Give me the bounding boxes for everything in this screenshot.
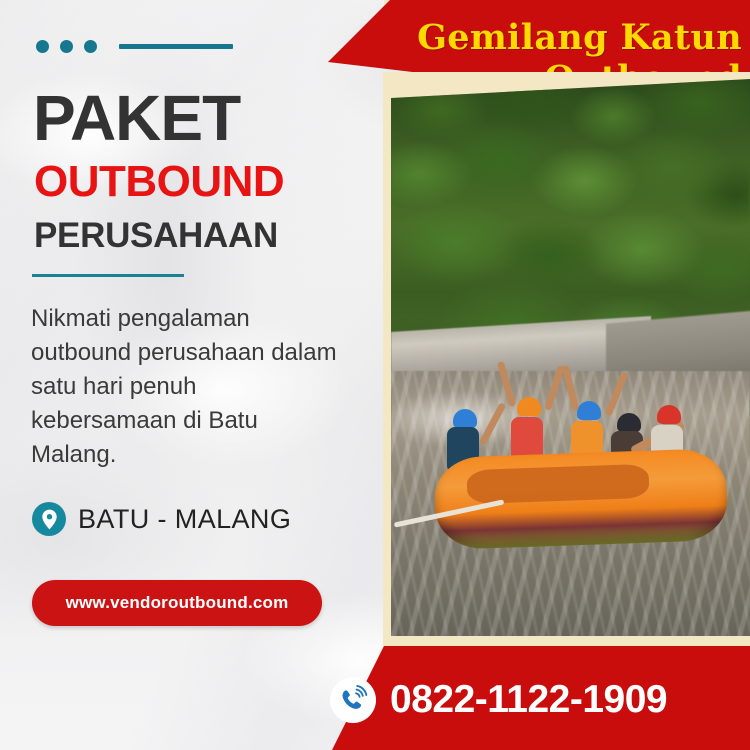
headline-line-2: OUTBOUND: [34, 160, 284, 204]
headline-line-3: PERUSAHAAN: [34, 218, 278, 253]
helmet-5: [657, 405, 681, 424]
helmet-2: [517, 397, 541, 416]
rafting-photo: [391, 79, 750, 641]
location-label: BATU - MALANG: [78, 504, 291, 535]
phone-number-text: 0822-1122-1909: [390, 678, 667, 722]
helmet-3: [577, 401, 601, 420]
decor-dot-2: [60, 40, 73, 53]
website-button[interactable]: www.vendoroutbound.com: [32, 580, 322, 626]
poster-canvas: Gemilang Katun Outbound: [0, 0, 750, 750]
helmet-4: [617, 413, 641, 432]
map-pin-icon: [32, 502, 66, 536]
decor-dot-1: [36, 40, 49, 53]
body-paragraph: Nikmati pengalaman outbound perusahaan d…: [31, 302, 341, 472]
phone-ringing-icon: [330, 677, 376, 723]
raft-interior: [466, 464, 649, 504]
location-row: BATU - MALANG: [32, 502, 291, 536]
helmet-1: [453, 409, 477, 428]
decor-line: [119, 44, 233, 49]
decor-dot-3: [84, 40, 97, 53]
website-button-label: www.vendoroutbound.com: [66, 593, 289, 613]
brand-title-line1: Gemilang Katun: [360, 18, 742, 59]
decorative-dots-row: [36, 40, 233, 53]
phone-contact-group[interactable]: 0822-1122-1909: [330, 677, 667, 723]
headline-underline: [32, 274, 184, 277]
headline-line-1: PAKET: [33, 86, 240, 150]
